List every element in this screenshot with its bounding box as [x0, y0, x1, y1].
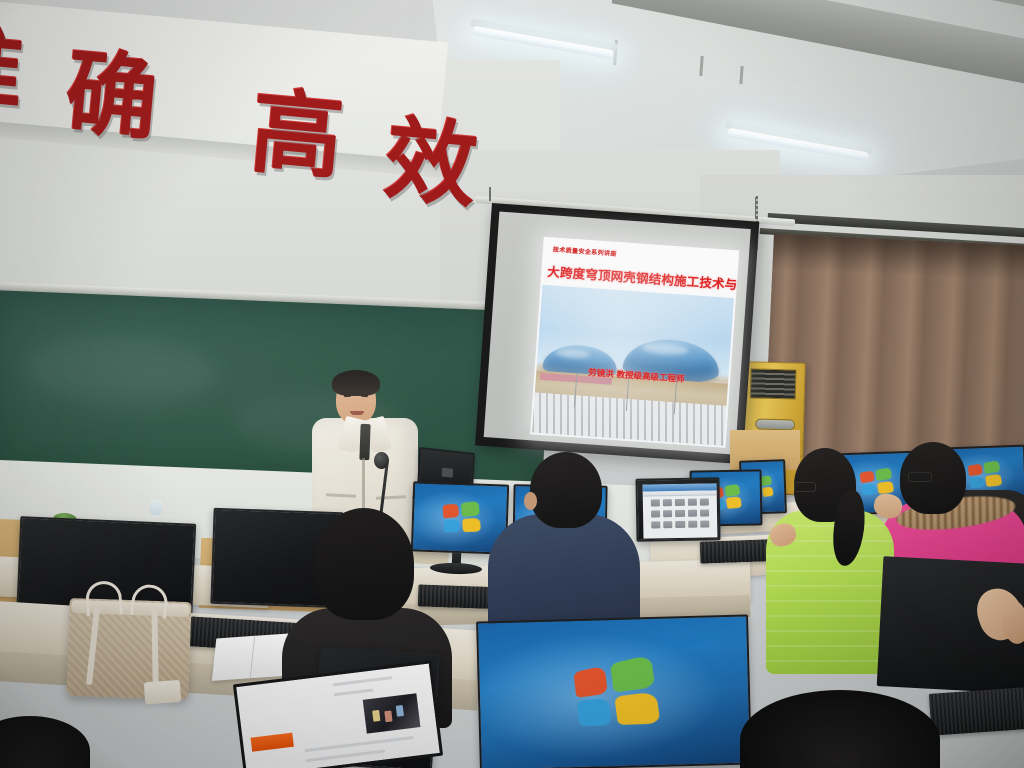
- presenter-eye: [344, 394, 351, 397]
- monitor-row1-c-document[interactable]: [635, 477, 720, 541]
- foreground-head: [740, 690, 940, 768]
- banner-character: 效: [381, 114, 481, 214]
- presentation-slide: 技术质量安全系列讲座 大跨度穹顶网壳钢结构施工技术与应用 劳镜洪 教授级高级工程…: [530, 237, 739, 448]
- windows-logo-icon: [573, 654, 661, 726]
- webpage-thumbnail[interactable]: [363, 693, 421, 733]
- banner-character: 准: [0, 19, 28, 119]
- lecture-hall-photo: 准 确 高 效 技术质量安全系列讲座 大跨度穹顶网壳钢结构施工技术与应用: [0, 0, 1024, 768]
- microphone-icon[interactable]: [374, 452, 389, 469]
- ac-badge: [755, 419, 795, 431]
- bag-strap: [86, 607, 100, 685]
- webpage-text-line: [304, 736, 414, 752]
- monitor-front-large[interactable]: [476, 614, 752, 768]
- banner-character: 高: [247, 86, 347, 186]
- attendee-head: [530, 452, 602, 528]
- presenter-hair: [332, 370, 380, 396]
- air-vent-icon: [750, 368, 797, 399]
- attendee-head: [314, 508, 414, 620]
- presenter-mouth: [350, 411, 364, 415]
- bag-strap: [151, 609, 158, 687]
- webpage-text-line: [334, 688, 374, 696]
- webpage-text-line: [306, 749, 386, 762]
- document-content: [651, 498, 710, 535]
- banner-character: 确: [62, 47, 162, 147]
- presenter-tie: [359, 424, 370, 460]
- water-cup: [150, 500, 163, 515]
- windows-logo-icon: [442, 501, 480, 533]
- foreground-head: [0, 716, 90, 768]
- attendee-green-jacket: [770, 448, 890, 668]
- chalk-smudge: [26, 332, 219, 410]
- document-window[interactable]: [643, 483, 718, 538]
- screen-hook-icon: [489, 187, 491, 201]
- window-toolbar[interactable]: [643, 490, 717, 496]
- keyboard[interactable]: [929, 686, 1024, 736]
- glasses-icon: [794, 482, 816, 492]
- laptop-logo-icon: [442, 468, 453, 478]
- webpage-banner[interactable]: [251, 733, 294, 752]
- attendee-ear: [524, 492, 537, 510]
- presenter-eye: [361, 394, 368, 397]
- projector-screen[interactable]: 技术质量安全系列讲座 大跨度穹顶网壳钢结构施工技术与应用 劳镜洪 教授级高级工程…: [475, 203, 759, 464]
- slide-series-label: 技术质量安全系列讲座: [553, 244, 617, 257]
- tote-handbag: [66, 598, 191, 700]
- screen-surface: 技术质量安全系列讲座 大跨度穹顶网壳钢结构施工技术与应用 劳镜洪 教授级高级工程…: [484, 212, 751, 455]
- webpage-text-line: [332, 676, 392, 686]
- bag-tag: [144, 680, 181, 704]
- glasses-icon: [908, 472, 932, 482]
